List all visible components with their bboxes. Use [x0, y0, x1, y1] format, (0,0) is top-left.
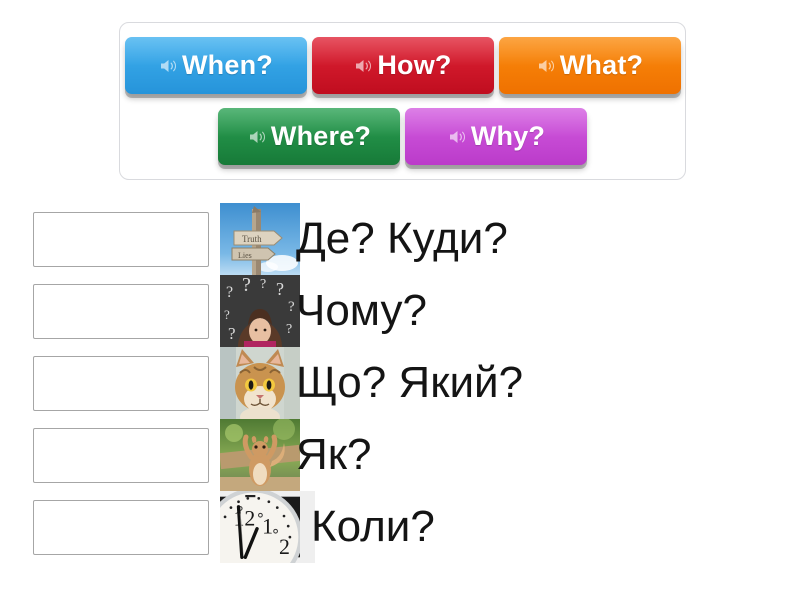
- draggable-tile-when[interactable]: When?: [125, 37, 307, 94]
- drop-zone[interactable]: [33, 356, 209, 411]
- tile-tray: When? How?: [119, 22, 686, 180]
- speaker-icon[interactable]: [247, 127, 267, 147]
- svg-text:?: ?: [288, 299, 295, 315]
- answer-row: Що? Який?: [0, 347, 800, 419]
- svg-text:?: ?: [276, 279, 284, 299]
- speaker-icon[interactable]: [536, 56, 556, 76]
- tile-tray-row-2: Where? Why?: [120, 108, 685, 165]
- row-text: Коли?: [311, 505, 435, 549]
- svg-text:12: 12: [233, 505, 255, 530]
- answer-row: Truth Lies Де? Куди?: [0, 203, 800, 275]
- tile-label: When?: [182, 50, 273, 81]
- squirrel-arms-up-image: [220, 419, 300, 491]
- tile-tray-row-1: When? How?: [120, 37, 685, 94]
- woman-thinking-question-marks-image: ? ? ? ? ? ? ? ? ?: [220, 275, 300, 347]
- row-text: Де? Куди?: [296, 217, 508, 261]
- draggable-tile-where[interactable]: Where?: [218, 108, 400, 165]
- svg-text:1: 1: [262, 514, 273, 539]
- drop-zone[interactable]: [33, 500, 209, 555]
- answer-rows: Truth Lies Де? Куди? ? ?: [0, 203, 800, 563]
- row-text: Чому?: [296, 289, 427, 333]
- tile-label: What?: [560, 50, 643, 81]
- signpost-truth-lies-image: Truth Lies: [220, 203, 300, 275]
- tile-label: How?: [377, 50, 451, 81]
- draggable-tile-how[interactable]: How?: [312, 37, 494, 94]
- row-text: Що? Який?: [296, 361, 523, 405]
- draggable-tile-why[interactable]: Why?: [405, 108, 587, 165]
- tile-label: Why?: [471, 121, 545, 152]
- activity-stage: When? How?: [0, 0, 800, 600]
- drop-zone[interactable]: [33, 212, 209, 267]
- svg-text:?: ?: [228, 324, 236, 343]
- svg-text:?: ?: [260, 277, 266, 292]
- drop-zone[interactable]: [33, 428, 209, 483]
- speaker-icon[interactable]: [158, 56, 178, 76]
- svg-text:Truth: Truth: [242, 234, 262, 244]
- drop-zone[interactable]: [33, 284, 209, 339]
- svg-text:2: 2: [279, 534, 290, 559]
- tabby-cat-image: [220, 347, 300, 419]
- svg-text:?: ?: [286, 322, 292, 337]
- svg-text:Lies: Lies: [238, 251, 252, 260]
- answer-row: 12 1 2 Коли?: [0, 491, 800, 563]
- svg-text:?: ?: [242, 275, 251, 296]
- speaker-icon[interactable]: [447, 127, 467, 147]
- answer-row: Як?: [0, 419, 800, 491]
- svg-text:?: ?: [224, 307, 230, 322]
- clock-face-image: 12 1 2: [220, 491, 315, 563]
- draggable-tile-what[interactable]: What?: [499, 37, 681, 94]
- tile-label: Where?: [271, 121, 371, 152]
- svg-text:?: ?: [226, 284, 233, 301]
- answer-row: ? ? ? ? ? ? ? ? ?: [0, 275, 800, 347]
- speaker-icon[interactable]: [353, 56, 373, 76]
- row-text: Як?: [296, 433, 372, 477]
